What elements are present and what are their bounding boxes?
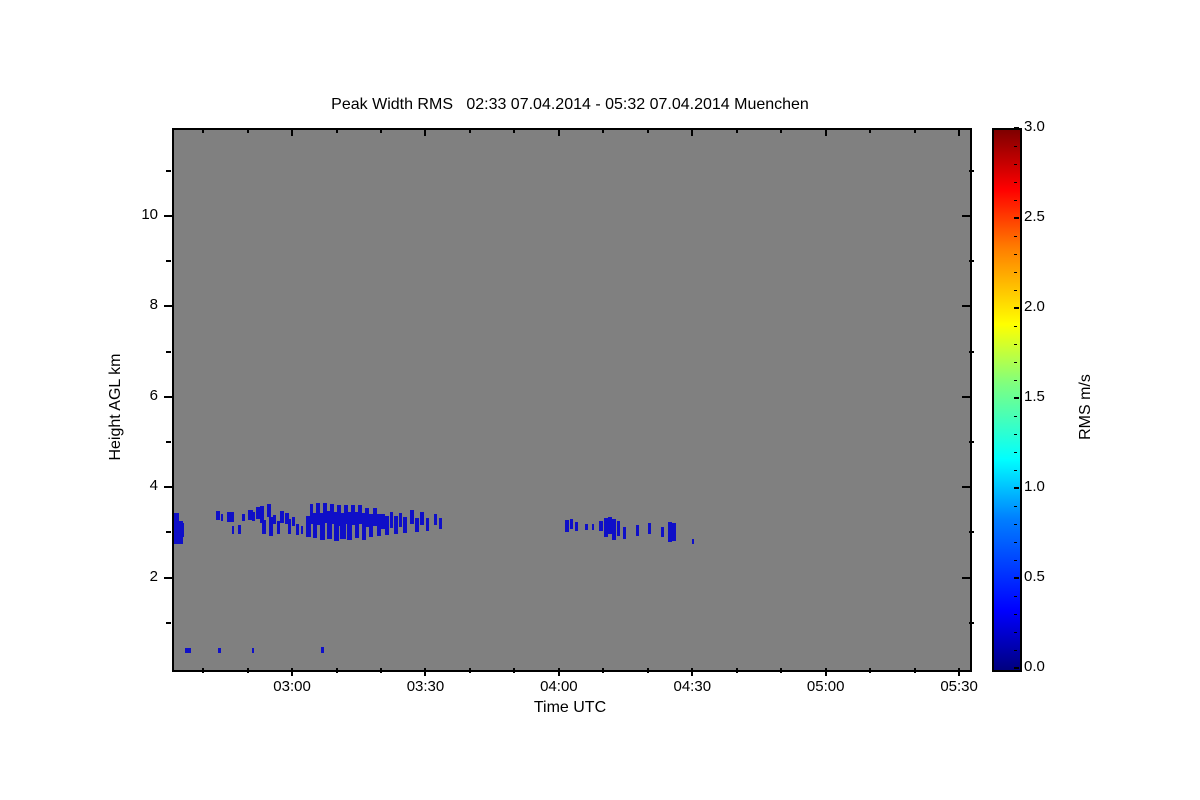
y-axis-tick [164, 305, 172, 307]
y-axis-minor-tick [166, 170, 171, 172]
x-axis-tick [691, 668, 693, 676]
colorbar-tick-label: 3.0 [1024, 118, 1045, 135]
colorbar[interactable] [992, 128, 1022, 672]
heatmap-cell [227, 512, 234, 522]
x-axis-minor-tick [336, 128, 338, 133]
x-axis-tick-label: 05:30 [919, 678, 999, 695]
y-axis-minor-tick [166, 351, 171, 353]
x-axis-minor-tick [869, 128, 871, 133]
y-axis-tick [164, 486, 172, 488]
heatmap-cell [592, 524, 594, 529]
heatmap-cell [218, 648, 220, 653]
colorbar-minor-tick [1014, 416, 1017, 417]
heatmap-cell [399, 513, 402, 527]
colorbar-minor-tick [1014, 362, 1017, 363]
heatmap-cell [189, 648, 191, 653]
heatmap-cell [439, 518, 442, 529]
x-axis-tick [691, 128, 693, 136]
colorbar-minor-tick [1014, 254, 1017, 255]
heatmap-cell [648, 523, 651, 535]
x-axis-tick [558, 668, 560, 676]
colorbar-minor-tick [1014, 632, 1017, 633]
colorbar-minor-tick [1014, 596, 1017, 597]
heatmap-cell [232, 526, 234, 533]
heatmap-cell [608, 517, 612, 533]
heatmap-cell [185, 648, 189, 653]
x-axis-minor-tick [869, 668, 871, 673]
x-axis-tick-label: 03:30 [385, 678, 465, 695]
colorbar-tick-label: 1.0 [1024, 478, 1045, 495]
x-axis-tick [291, 128, 293, 136]
y-axis-tick-label: 2 [118, 568, 158, 585]
y-axis-minor-tick [166, 622, 171, 624]
heatmap-cell [617, 521, 621, 536]
colorbar-minor-tick [1014, 146, 1017, 147]
heatmap-cell [252, 648, 254, 653]
heatmap-cell [599, 521, 603, 531]
heatmap-cell [267, 504, 271, 518]
y-axis-tick [962, 486, 970, 488]
y-axis-minor-tick [969, 531, 974, 533]
heatmap-cell [403, 517, 407, 532]
y-axis-tick-label: 10 [118, 206, 158, 223]
x-axis-tick [291, 668, 293, 676]
x-axis-minor-tick [914, 128, 916, 133]
y-axis-tick [164, 577, 172, 579]
y-axis-minor-tick [166, 531, 171, 533]
y-axis-tick [164, 215, 172, 217]
x-axis-minor-tick [513, 668, 515, 673]
heatmap-cell [420, 512, 424, 526]
x-axis-minor-tick [202, 668, 204, 673]
y-axis-minor-tick [969, 170, 974, 172]
colorbar-minor-tick [1014, 650, 1017, 651]
heatmap-cell [394, 516, 398, 533]
heatmap-cell [252, 512, 255, 521]
colorbar-minor-tick [1014, 452, 1017, 453]
colorbar-minor-tick [1014, 506, 1017, 507]
colorbar-tick-label: 2.0 [1024, 298, 1045, 315]
colorbar-tick [1014, 127, 1019, 129]
x-axis-tick-label: 03:00 [252, 678, 332, 695]
y-axis-minor-tick [166, 441, 171, 443]
x-axis-minor-tick [469, 128, 471, 133]
colorbar-tick-label: 0.0 [1024, 658, 1045, 675]
x-axis-tick-label: 05:00 [786, 678, 866, 695]
heatmap-cell [585, 524, 587, 529]
heatmap-cell [661, 527, 664, 537]
x-axis-minor-tick [736, 128, 738, 133]
heatmap-cell [672, 523, 676, 541]
x-axis-minor-tick [247, 668, 249, 673]
colorbar-gradient [994, 130, 1020, 670]
heatmap-cell [216, 511, 220, 519]
heatmap-cell [426, 518, 429, 531]
y-axis-tick [962, 577, 970, 579]
heatmap-data-layer [174, 130, 970, 670]
heatmap-cell [238, 525, 241, 534]
x-axis-label: Time UTC [172, 699, 968, 717]
colorbar-minor-tick [1014, 560, 1017, 561]
x-axis-minor-tick [513, 128, 515, 133]
heatmap-cell [390, 512, 394, 528]
colorbar-minor-tick [1014, 236, 1017, 237]
heatmap-cell [262, 520, 265, 534]
colorbar-minor-tick [1014, 542, 1017, 543]
x-axis-minor-tick [780, 668, 782, 673]
x-axis-minor-tick [602, 668, 604, 673]
colorbar-label: RMS m/s [1077, 307, 1095, 507]
heatmap-cell [570, 519, 573, 529]
colorbar-tick-label: 1.5 [1024, 388, 1045, 405]
heatmap-cell [174, 513, 179, 521]
x-axis-minor-tick [380, 668, 382, 673]
y-axis-minor-tick [969, 351, 974, 353]
heatmap-cell [221, 514, 223, 521]
heatmap-cell [636, 525, 638, 536]
x-axis-tick [424, 668, 426, 676]
heatmap-cell [434, 514, 438, 526]
colorbar-minor-tick [1014, 380, 1017, 381]
colorbar-tick [1014, 487, 1019, 489]
y-axis-minor-tick [166, 260, 171, 262]
colorbar-minor-tick [1014, 200, 1017, 201]
heatmap-cell [242, 514, 245, 521]
heatmap-cell [296, 524, 299, 536]
page-title: Peak Width RMS 02:33 07.04.2014 - 05:32 … [172, 96, 968, 114]
colorbar-minor-tick [1014, 344, 1017, 345]
y-axis-label: Height AGL km [107, 287, 125, 527]
heatmap-cell [381, 514, 385, 529]
heatmap-cell [692, 539, 694, 544]
x-axis-minor-tick [380, 128, 382, 133]
x-axis-minor-tick [202, 128, 204, 133]
heatmap-cell [180, 523, 184, 537]
colorbar-minor-tick [1014, 434, 1017, 435]
y-axis-minor-tick [969, 441, 974, 443]
x-axis-tick [958, 128, 960, 136]
y-axis-minor-tick [969, 622, 974, 624]
colorbar-minor-tick [1014, 164, 1017, 165]
colorbar-minor-tick [1014, 614, 1017, 615]
colorbar-tick [1014, 397, 1019, 399]
y-axis-tick [962, 305, 970, 307]
x-axis-tick-label: 04:30 [652, 678, 732, 695]
x-axis-tick [424, 128, 426, 136]
figure-canvas: Peak Width RMS 02:33 07.04.2014 - 05:32 … [0, 0, 1200, 800]
x-axis-tick [958, 668, 960, 676]
x-axis-minor-tick [647, 668, 649, 673]
y-axis-tick [962, 215, 970, 217]
x-axis-tick [825, 128, 827, 136]
heatmap-cell [410, 510, 414, 524]
colorbar-minor-tick [1014, 182, 1017, 183]
heatmap-cell [277, 521, 280, 535]
x-axis-minor-tick [780, 128, 782, 133]
x-axis-tick-label: 04:00 [519, 678, 599, 695]
heatmap-cell [280, 511, 284, 523]
y-axis-tick [962, 396, 970, 398]
heatmap-cell [292, 517, 295, 526]
heatmap-cell [377, 514, 381, 537]
colorbar-tick-label: 2.5 [1024, 208, 1045, 225]
heatmap-cell [301, 526, 303, 534]
heatmap-cell [623, 527, 626, 539]
colorbar-minor-tick [1014, 290, 1017, 291]
x-axis-tick [825, 668, 827, 676]
x-axis-tick [558, 128, 560, 136]
heatmap-cell [612, 519, 616, 540]
colorbar-tick [1014, 667, 1019, 669]
colorbar-minor-tick [1014, 272, 1017, 273]
y-axis-minor-tick [969, 260, 974, 262]
heatmap-cell [565, 520, 569, 532]
y-axis-tick [164, 396, 172, 398]
colorbar-tick [1014, 217, 1019, 219]
colorbar-tick [1014, 307, 1019, 309]
colorbar-minor-tick [1014, 470, 1017, 471]
heatmap-cell [288, 519, 292, 534]
colorbar-tick-label: 0.5 [1024, 568, 1045, 585]
x-axis-minor-tick [914, 668, 916, 673]
colorbar-minor-tick [1014, 524, 1017, 525]
heatmap-cell [321, 647, 324, 652]
x-axis-minor-tick [602, 128, 604, 133]
colorbar-tick [1014, 577, 1019, 579]
heatmap-cell [415, 518, 419, 532]
plot-axes[interactable] [172, 128, 972, 672]
x-axis-minor-tick [736, 668, 738, 673]
x-axis-minor-tick [247, 128, 249, 133]
heatmap-cell [575, 522, 578, 531]
heatmap-cell [385, 516, 389, 535]
x-axis-minor-tick [647, 128, 649, 133]
colorbar-minor-tick [1014, 326, 1017, 327]
x-axis-minor-tick [336, 668, 338, 673]
x-axis-minor-tick [469, 668, 471, 673]
